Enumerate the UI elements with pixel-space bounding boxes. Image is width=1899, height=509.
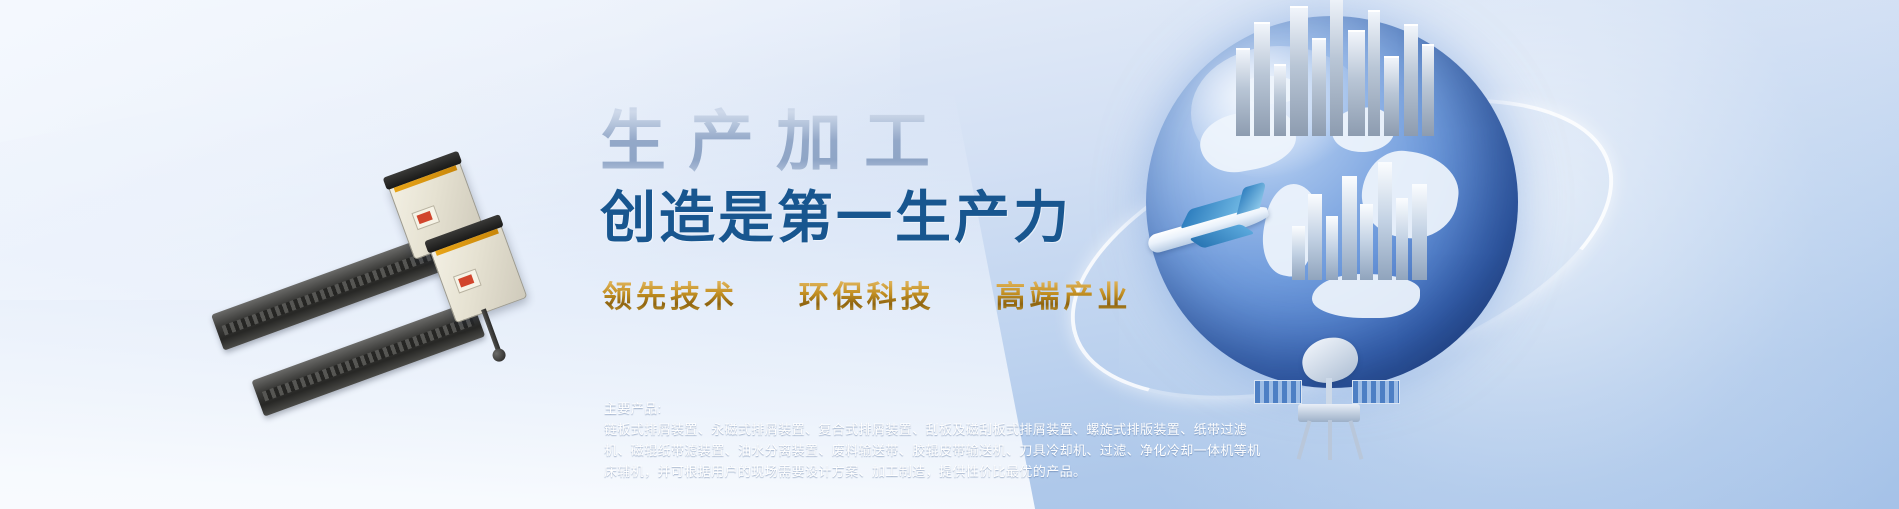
tagline-item-3: 高端产业 <box>995 281 1131 314</box>
tagline-item-1: 领先技术 <box>602 281 738 314</box>
tagline-item-2: 环保科技 <box>799 281 935 314</box>
banner-copy: 生产加工 创造是第一生产力 领先技术 环保科技 高端产业 主要产品: 链板式排屑… <box>0 0 1899 509</box>
product-description-title: 主要产品: <box>604 398 1264 419</box>
product-description: 主要产品: 链板式排屑装置、永磁式排屑装置、复合式排屑装置、刮板及磁刮板式排屑装… <box>604 398 1264 482</box>
product-description-body: 链板式排屑装置、永磁式排屑装置、复合式排屑装置、刮板及磁刮板式排屑装置、螺旋式排… <box>604 422 1261 479</box>
promo-banner: 生产加工 创造是第一生产力 领先技术 环保科技 高端产业 主要产品: 链板式排屑… <box>0 0 1899 509</box>
tagline-group: 领先技术 环保科技 高端产业 <box>602 272 1131 316</box>
banner-subtitle: 创造是第一生产力 <box>600 173 1072 254</box>
page-title: 生产加工 <box>600 88 952 184</box>
